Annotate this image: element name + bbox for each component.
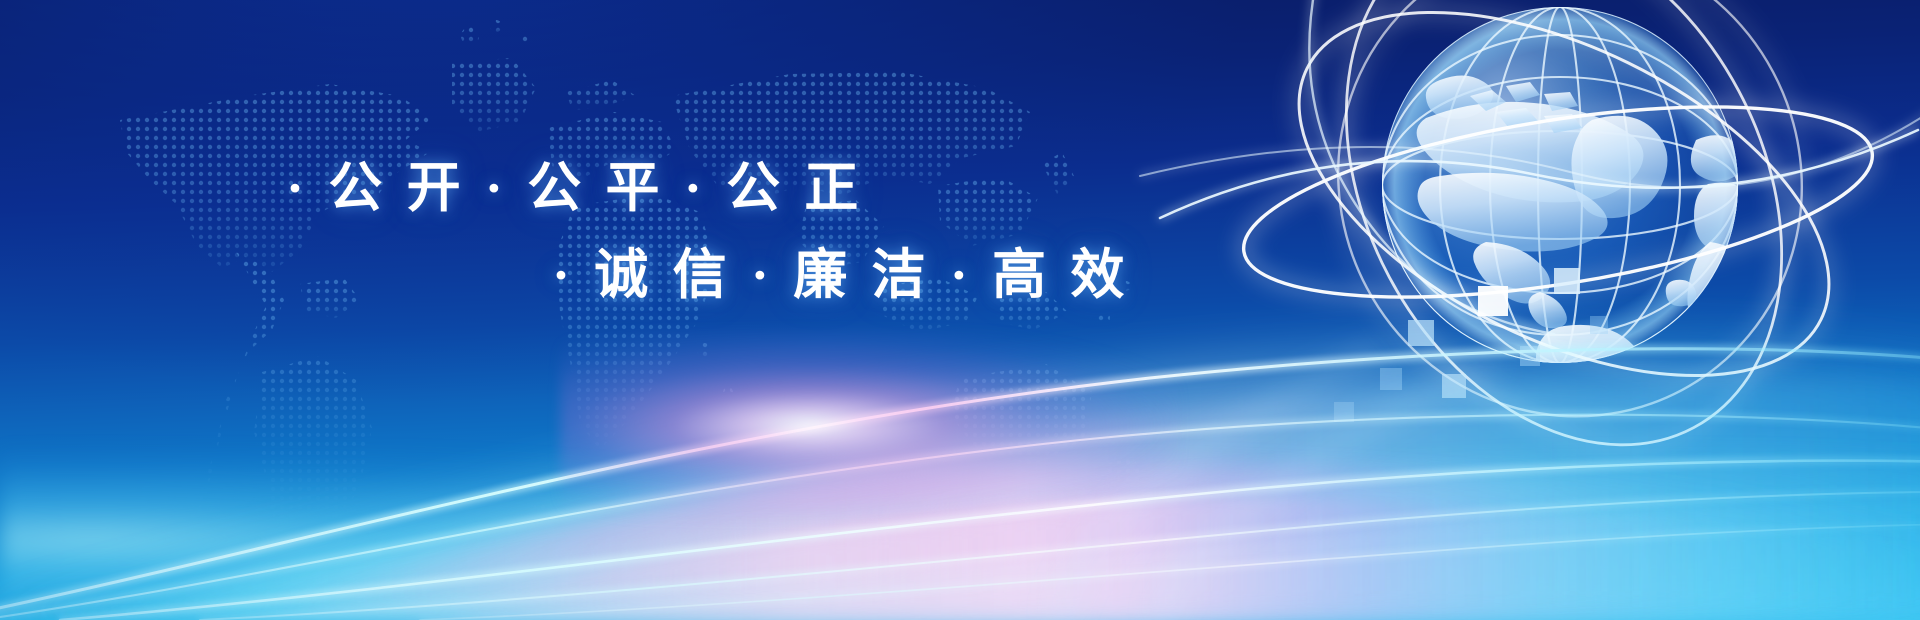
wireframe-globe — [1140, 0, 1920, 440]
slogan-line-1: · 公 开 · 公 平 · 公 正 — [286, 143, 864, 222]
accent-square — [1520, 346, 1540, 366]
light-wave-ribbons — [0, 290, 1920, 620]
pink-glow-core — [560, 330, 1180, 520]
accent-square — [1334, 402, 1354, 422]
accent-square — [1554, 268, 1580, 294]
accent-square — [1408, 320, 1434, 346]
accent-square — [1478, 286, 1508, 316]
accent-square — [1590, 316, 1608, 334]
cyan-glow — [0, 450, 900, 600]
slogan-line-2: · 诚 信 · 廉 洁 · 高 效 — [552, 230, 1130, 309]
pixel-square-accents — [1380, 250, 1640, 430]
promotional-banner: · 公 开 · 公 平 · 公 正 · 诚 信 · 廉 洁 · 高 效 — [0, 0, 1920, 620]
accent-square — [1380, 368, 1402, 390]
accent-square — [1442, 374, 1466, 398]
